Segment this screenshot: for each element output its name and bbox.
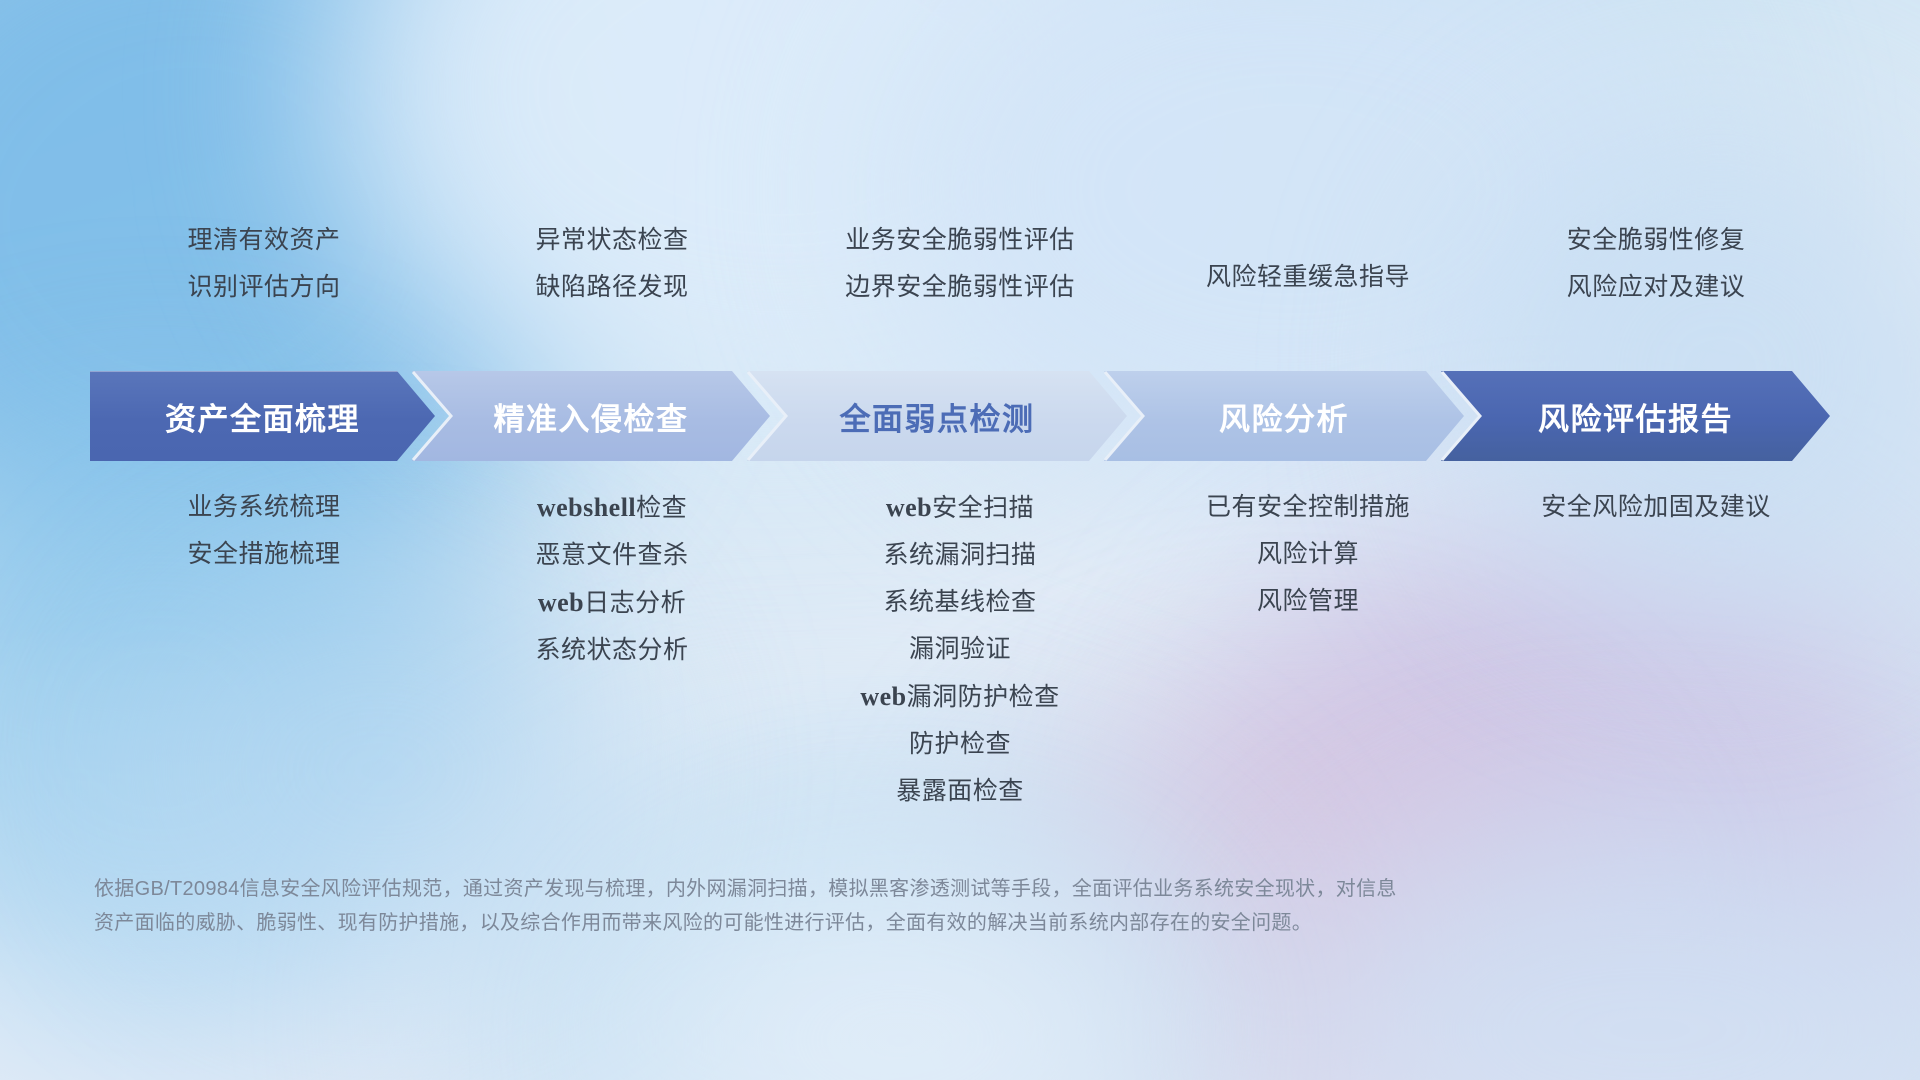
list-item: 安全措施梳理 xyxy=(187,542,340,567)
stage-arrow-4[interactable]: 风险分析 xyxy=(1104,371,1464,461)
list-item: web安全扫描 xyxy=(886,495,1034,521)
top-caption: 安全脆弱性修复 xyxy=(1567,228,1746,253)
footer-line: 资产面临的威胁、脆弱性、现有防护措施，以及综合作用而带来风险的可能性进行评估，全… xyxy=(94,906,1614,940)
process-infographic: 理清有效资产 识别评估方向 异常状态检查 缺陷路径发现 业务安全脆弱性评估 边界… xyxy=(0,0,1920,1080)
stage-arrow-label: 全面弱点检测 xyxy=(840,394,1035,439)
bottom-items-stage-3: web安全扫描 系统漏洞扫描 系统基线检查 漏洞验证 web漏洞防护检查 防护检… xyxy=(786,495,1134,826)
list-item: 漏洞验证 xyxy=(909,637,1011,662)
stage-arrow-label: 资产全面梳理 xyxy=(165,394,360,439)
bottom-items-row: 业务系统梳理 安全措施梳理 webshell检查 恶意文件查杀 web日志分析 … xyxy=(90,495,1830,826)
top-caption: 边界安全脆弱性评估 xyxy=(845,275,1075,300)
top-caption: 异常状态检查 xyxy=(535,228,688,253)
stage-arrow-1[interactable]: 资产全面梳理 xyxy=(90,371,435,461)
footer-description: 依据GB/T20984信息安全风险评估规范，通过资产发现与梳理，内外网漏洞扫描，… xyxy=(94,872,1614,940)
top-captions-row: 理清有效资产 识别评估方向 异常状态检查 缺陷路径发现 业务安全脆弱性评估 边界… xyxy=(90,228,1830,300)
list-item: 暴露面检查 xyxy=(896,779,1024,804)
list-item: 系统漏洞扫描 xyxy=(883,543,1036,568)
list-item: web漏洞防护检查 xyxy=(860,684,1059,710)
top-caption: 业务安全脆弱性评估 xyxy=(845,228,1075,253)
stage-arrow-label: 精准入侵检查 xyxy=(494,394,689,439)
stage-arrow-label: 风险评估报告 xyxy=(1538,394,1733,439)
list-item: web日志分析 xyxy=(538,590,686,616)
top-captions-stage-2: 异常状态检查 缺陷路径发现 xyxy=(438,228,786,300)
bottom-items-stage-4: 已有安全控制措施 风险计算 风险管理 xyxy=(1134,495,1482,636)
stage-arrow-2[interactable]: 精准入侵检查 xyxy=(412,371,770,461)
list-item: 系统基线检查 xyxy=(883,590,1036,615)
top-captions-stage-3: 业务安全脆弱性评估 边界安全脆弱性评估 xyxy=(786,228,1134,300)
list-item: 恶意文件查杀 xyxy=(535,543,688,568)
top-captions-stage-4: 风险轻重缓急指导 xyxy=(1134,228,1482,300)
list-item: webshell检查 xyxy=(537,495,687,521)
stage-arrow-label: 风险分析 xyxy=(1219,394,1349,439)
bottom-items-stage-2: webshell检查 恶意文件查杀 web日志分析 系统状态分析 xyxy=(438,495,786,685)
top-caption: 缺陷路径发现 xyxy=(535,275,688,300)
top-caption: 风险应对及建议 xyxy=(1567,275,1746,300)
top-captions-stage-5: 安全脆弱性修复 风险应对及建议 xyxy=(1482,228,1830,300)
top-caption: 识别评估方向 xyxy=(187,275,340,300)
list-item: 安全风险加固及建议 xyxy=(1541,495,1771,520)
top-captions-stage-1: 理清有效资产 识别评估方向 xyxy=(90,228,438,300)
list-item: 业务系统梳理 xyxy=(187,495,340,520)
list-item: 防护检查 xyxy=(909,732,1011,757)
list-item: 已有安全控制措施 xyxy=(1206,495,1410,520)
top-caption: 风险轻重缓急指导 xyxy=(1206,265,1410,290)
bottom-items-stage-1: 业务系统梳理 安全措施梳理 xyxy=(90,495,438,589)
stage-arrow-5[interactable]: 风险评估报告 xyxy=(1441,371,1830,461)
list-item: 风险计算 xyxy=(1257,542,1359,567)
list-item: 风险管理 xyxy=(1257,589,1359,614)
bottom-items-stage-5: 安全风险加固及建议 xyxy=(1482,495,1830,542)
footer-line: 依据GB/T20984信息安全风险评估规范，通过资产发现与梳理，内外网漏洞扫描，… xyxy=(94,872,1614,906)
top-caption: 理清有效资产 xyxy=(187,228,340,253)
process-arrow-band: 资产全面梳理 精准入侵检查 全面弱点检测 风险分析 风险评估报告 xyxy=(90,371,1830,461)
list-item: 系统状态分析 xyxy=(535,638,688,663)
stage-arrow-3[interactable]: 全面弱点检测 xyxy=(747,371,1127,461)
